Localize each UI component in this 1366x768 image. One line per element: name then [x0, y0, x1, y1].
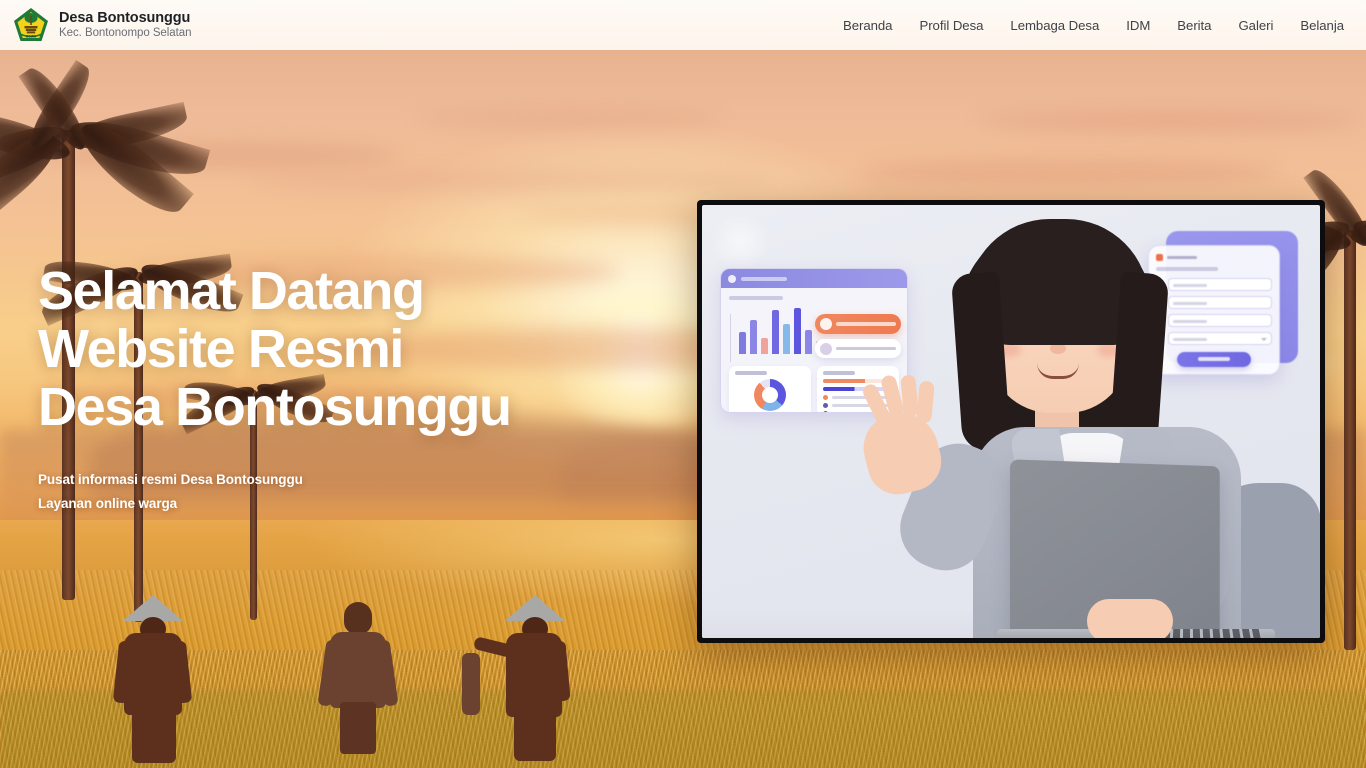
hero-subtitle-line-2: Layanan online warga [38, 492, 658, 516]
brand-subtitle: Kec. Bontonompo Selatan [59, 27, 191, 40]
hero-title-line-3: Desa Bontosunggu [38, 377, 511, 437]
donut-chart [754, 379, 786, 411]
nav-item-galeri[interactable]: Galeri [1238, 18, 1273, 33]
hero-copy: Selamat Datang Website Resmi Desa Bontos… [38, 262, 658, 516]
gowa-regency-emblem-icon: GOWA [12, 6, 50, 44]
brand[interactable]: GOWA Desa Bontosunggu Kec. Bontonompo Se… [0, 6, 191, 44]
brand-title: Desa Bontosunggu [59, 10, 191, 26]
nav-item-belanja[interactable]: Belanja [1300, 18, 1344, 33]
typing-hand [1087, 599, 1173, 638]
nav-item-beranda[interactable]: Beranda [843, 18, 893, 33]
nav-item-profil-desa[interactable]: Profil Desa [919, 18, 983, 33]
cartoon-woman-character [917, 215, 1307, 638]
hero-subtitle-line-1: Pusat informasi resmi Desa Bontosunggu [38, 468, 658, 492]
hero-title-line-2: Website Resmi [38, 319, 403, 379]
nav-item-lembaga-desa[interactable]: Lembaga Desa [1010, 18, 1099, 33]
dashboard-avatar-icon [728, 275, 736, 283]
hero-section: Selamat Datang Website Resmi Desa Bontos… [0, 50, 1366, 768]
hero-illustration [702, 205, 1320, 638]
brand-text: Desa Bontosunggu Kec. Bontonompo Selatan [59, 10, 191, 40]
dashboard-titlebar [721, 269, 907, 288]
hero-title-line-1: Selamat Datang [38, 261, 424, 321]
hero-subtitle: Pusat informasi resmi Desa Bontosunggu L… [38, 468, 658, 516]
dashboard-action-pill [815, 314, 901, 334]
main-navigation: Beranda Profil Desa Lembaga Desa IDM Ber… [843, 18, 1366, 33]
nav-item-idm[interactable]: IDM [1126, 18, 1150, 33]
svg-text:GOWA: GOWA [26, 35, 37, 39]
hero-illustration-card[interactable] [697, 200, 1325, 643]
site-header: GOWA Desa Bontosunggu Kec. Bontonompo Se… [0, 0, 1366, 50]
dashboard-donut-card [729, 366, 811, 413]
dashboard-user-pill [815, 339, 901, 358]
nav-item-berita[interactable]: Berita [1177, 18, 1211, 33]
hero-title: Selamat Datang Website Resmi Desa Bontos… [38, 262, 658, 436]
floating-dashboard-panel [720, 268, 908, 413]
